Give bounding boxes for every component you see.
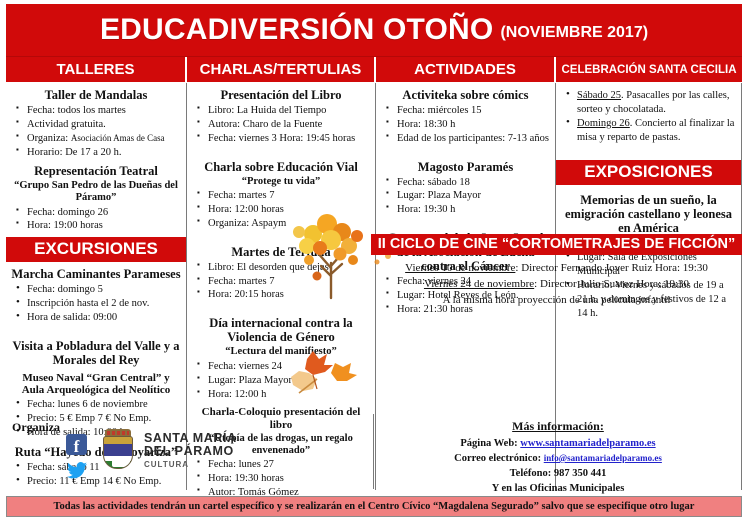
event-title: Memorias de un sueño, la emigración cast… bbox=[561, 193, 736, 235]
page-subtitle: (NOVIEMBRE 2017) bbox=[500, 24, 648, 42]
list-item: Lugar: Plaza Mayor bbox=[385, 189, 550, 203]
cine-note: A la misma hora proyección de una pelícu… bbox=[375, 293, 738, 309]
spacer bbox=[187, 302, 375, 311]
list-item: Fecha: todos los martes bbox=[15, 104, 181, 118]
list-item: Hora: 19:00 horas bbox=[15, 219, 181, 233]
event-activiteka-comics: Activiteka sobre cómics Fecha: miércoles… bbox=[376, 88, 555, 146]
event-title: Representación Teatral bbox=[11, 164, 181, 178]
event-details: Libro: La Huida del Tiempo Autora: Charo… bbox=[196, 104, 370, 146]
footer-note: Todas las actividades tendrán un cartel … bbox=[6, 496, 742, 517]
organizer-name: Asociación Amas de Casa bbox=[71, 133, 165, 143]
event-title: Martes de Tertulia bbox=[192, 245, 370, 259]
cine-schedule: Viernes 10 de noviembre: Director Fernan… bbox=[371, 255, 742, 312]
logo-text: SANTA MARÍA DEL PÁRAMO CULTURA bbox=[144, 432, 237, 469]
shield-shape bbox=[103, 436, 133, 469]
list-item: Fecha: lunes 6 de noviembre bbox=[15, 398, 181, 412]
list-item: Hora de salida: 09:00 bbox=[15, 311, 181, 325]
website-link[interactable]: www.santamariadelparamo.es bbox=[520, 438, 655, 449]
list-item: Horario: De 17 a 20 h. bbox=[15, 146, 181, 160]
organiza-box: Organiza f SANTA MARÍA DEL PÁRAMO CULT bbox=[6, 414, 374, 489]
cine-line: Viernes 10 de noviembre: Director Fernan… bbox=[375, 261, 738, 277]
event-title: Charla sobre Educación Vial bbox=[192, 160, 370, 174]
cine-detail: : Director Julio Suarez Hora: 19:30 bbox=[534, 278, 689, 290]
list-item: Fecha: domingo 26 bbox=[15, 206, 181, 220]
event-educacion-vial: Charla sobre Educación Vial “Protege tu … bbox=[187, 160, 375, 231]
event-title: Marcha Caminantes Parameses bbox=[11, 267, 181, 281]
santa-cecilia-details: Sábado 25. Pasacalles por las calles, so… bbox=[556, 89, 741, 144]
facebook-icon[interactable]: f bbox=[66, 434, 87, 455]
column-header-santa-cecilia: CELEBRACIÓN SANTA CECILIA bbox=[556, 57, 742, 82]
event-details: Sábado 25. Pasacalles por las calles, so… bbox=[565, 89, 736, 144]
event-details: Fecha: martes 7 Hora: 12:00 horas Organi… bbox=[196, 189, 370, 231]
section-banner-exposiciones: EXPOSICIONES bbox=[556, 160, 741, 185]
title-banner: EDUCADIVERSIÓN OTOÑO (NOVIEMBRE 2017) bbox=[6, 4, 742, 56]
list-item: Actividad gratuita. bbox=[15, 118, 181, 132]
event-details: Fecha: miércoles 15 Hora: 18:30 h Edad d… bbox=[385, 104, 550, 146]
spacer bbox=[376, 146, 555, 155]
list-item: Hora: 12:00 h bbox=[196, 388, 370, 402]
section-banner-cine: II CICLO DE CINE “CORTOMETRAJES DE FICCI… bbox=[371, 234, 742, 255]
list-item: Fecha: viernes 3 Hora: 19:45 horas bbox=[196, 132, 370, 146]
municipality-logo: SANTA MARÍA DEL PÁRAMO CULTURA bbox=[101, 428, 237, 472]
list-item: Fecha: martes 7 bbox=[196, 275, 370, 289]
list-item: Inscripción hasta el 2 de nov. bbox=[15, 297, 181, 311]
social-links: f bbox=[66, 434, 87, 479]
event-subtitle: Museo Naval “Gran Central” y Aula Arqueo… bbox=[11, 372, 181, 397]
list-item: Libro: El desorden que dejas bbox=[196, 261, 370, 275]
twitter-icon[interactable] bbox=[66, 461, 87, 479]
organiza-label: Organiza bbox=[12, 420, 60, 435]
cine-date: Viernes 24 de noviembre bbox=[424, 278, 534, 290]
spacer bbox=[6, 325, 186, 334]
footer-row: Organiza f SANTA MARÍA DEL PÁRAMO CULT bbox=[6, 414, 742, 489]
list-item: Organiza: Aspaym bbox=[196, 217, 370, 231]
column-header-talleres: TALLERES bbox=[6, 57, 187, 82]
event-title: Día internacional contra la Violencia de… bbox=[192, 316, 370, 344]
column-header-actividades: ACTIVIDADES bbox=[376, 57, 556, 82]
list-item: Autora: Charo de la Fuente bbox=[196, 118, 370, 132]
list-item: Hora: 20:15 horas bbox=[196, 288, 370, 302]
email-link[interactable]: info@santamariadelparamo.es bbox=[544, 453, 662, 463]
event-details: Fecha: domingo 5 Inscripción hasta el 2 … bbox=[15, 283, 181, 325]
list-item: Sábado 25. Pasacalles por las calles, so… bbox=[565, 89, 736, 117]
logo-line-1: SANTA MARÍA bbox=[144, 432, 237, 445]
logo-line-3: CULTURA bbox=[144, 461, 237, 469]
section-banner-excursiones: EXCURSIONES bbox=[6, 237, 186, 262]
coat-of-arms-icon bbox=[101, 428, 135, 472]
event-title: Activiteka sobre cómics bbox=[381, 88, 550, 102]
event-title: Presentación del Libro bbox=[192, 88, 370, 102]
event-martes-tertulia: Martes de Tertulia Libro: El desorden qu… bbox=[187, 245, 375, 303]
logo-line-2: DEL PÁRAMO bbox=[144, 445, 237, 458]
column-header-charlas: CHARLAS/TERTULIAS bbox=[187, 57, 376, 82]
event-details: Libro: El desorden que dejas Fecha: mart… bbox=[196, 261, 370, 303]
list-item: Fecha: viernes 24 bbox=[196, 360, 370, 374]
event-violencia-genero: Día internacional contra la Violencia de… bbox=[187, 316, 375, 401]
event-representacion-teatral: Representación Teatral “Grupo San Pedro … bbox=[6, 164, 186, 233]
event-presentacion-libro: Presentación del Libro Libro: La Huida d… bbox=[187, 88, 375, 146]
info-box: Más información: Página Web: www.santama… bbox=[374, 414, 742, 489]
info-offices: Y en las Oficinas Municipales bbox=[378, 482, 738, 497]
event-marcha-caminantes: Marcha Caminantes Parameses Fecha: domin… bbox=[6, 267, 186, 325]
list-item: Fecha: sábado 18 bbox=[385, 176, 550, 190]
column-header-bar: TALLERES CHARLAS/TERTULIAS ACTIVIDADES C… bbox=[6, 56, 742, 82]
web-label: Página Web: bbox=[460, 438, 520, 449]
list-item: Fecha: domingo 5 bbox=[15, 283, 181, 297]
poster-root: EDUCADIVERSIÓN OTOÑO (NOVIEMBRE 2017) TA… bbox=[0, 0, 748, 523]
list-item: Hora: 18:30 h bbox=[385, 118, 550, 132]
list-item: Fecha: martes 7 bbox=[196, 189, 370, 203]
event-details: Fecha: domingo 26 Hora: 19:00 horas bbox=[15, 206, 181, 234]
event-details: Fecha: sábado 18 Lugar: Plaza Mayor Hora… bbox=[385, 176, 550, 218]
cine-detail: : Director Fernando Jover Ruiz Hora: 19:… bbox=[515, 262, 707, 274]
list-item: Libro: La Huida del Tiempo bbox=[196, 104, 370, 118]
event-title: Magosto Paramés bbox=[381, 160, 550, 174]
event-taller-mandalas: Taller de Mandalas Fecha: todos los mart… bbox=[6, 88, 186, 159]
spacer bbox=[187, 231, 375, 240]
page-title: EDUCADIVERSIÓN OTOÑO bbox=[100, 13, 494, 47]
mail-label: Correo electrónico: bbox=[454, 453, 544, 464]
list-item: Hora: 19:30 h bbox=[385, 203, 550, 217]
list-item: Organiza: Asociación Amas de Casa bbox=[15, 132, 181, 146]
list-item: Domingo 26. Concierto al finalizar la mi… bbox=[565, 117, 736, 145]
event-subtitle: “Protege tu vida” bbox=[192, 176, 370, 188]
cine-section: II CICLO DE CINE “CORTOMETRAJES DE FICCI… bbox=[371, 234, 742, 312]
cine-date: Viernes 10 de noviembre bbox=[405, 262, 515, 274]
cine-line: Viernes 24 de noviembre: Director Julio … bbox=[375, 277, 738, 293]
list-item: Edad de los participantes: 7-13 años bbox=[385, 132, 550, 146]
event-details: Fecha: todos los martes Actividad gratui… bbox=[15, 104, 181, 159]
event-title: Taller de Mandalas bbox=[11, 88, 181, 102]
event-details: Fecha: viernes 24 Lugar: Plaza Mayor Hor… bbox=[196, 360, 370, 402]
event-subtitle: “Lectura del manifiesto” bbox=[192, 346, 370, 358]
info-heading: Más información: bbox=[378, 419, 738, 434]
info-web-line: Página Web: www.santamariadelparamo.es bbox=[378, 437, 738, 452]
list-item: Fecha: miércoles 15 bbox=[385, 104, 550, 118]
list-item: Lugar: Plaza Mayor bbox=[196, 374, 370, 388]
event-magosto-parames: Magosto Paramés Fecha: sábado 18 Lugar: … bbox=[376, 160, 555, 218]
event-title: Visita a Pobladura del Valle y a Morales… bbox=[11, 339, 181, 367]
event-subtitle: “Grupo San Pedro de las Dueñas del Páram… bbox=[11, 180, 181, 203]
spacer bbox=[376, 217, 555, 226]
crest-emblem bbox=[112, 458, 130, 467]
info-phone: Teléfono: 987 350 441 bbox=[378, 467, 738, 482]
list-item: Hora: 12:00 horas bbox=[196, 203, 370, 217]
spacer bbox=[187, 146, 375, 155]
info-mail-line: Correo electrónico: info@santamariadelpa… bbox=[378, 452, 738, 467]
